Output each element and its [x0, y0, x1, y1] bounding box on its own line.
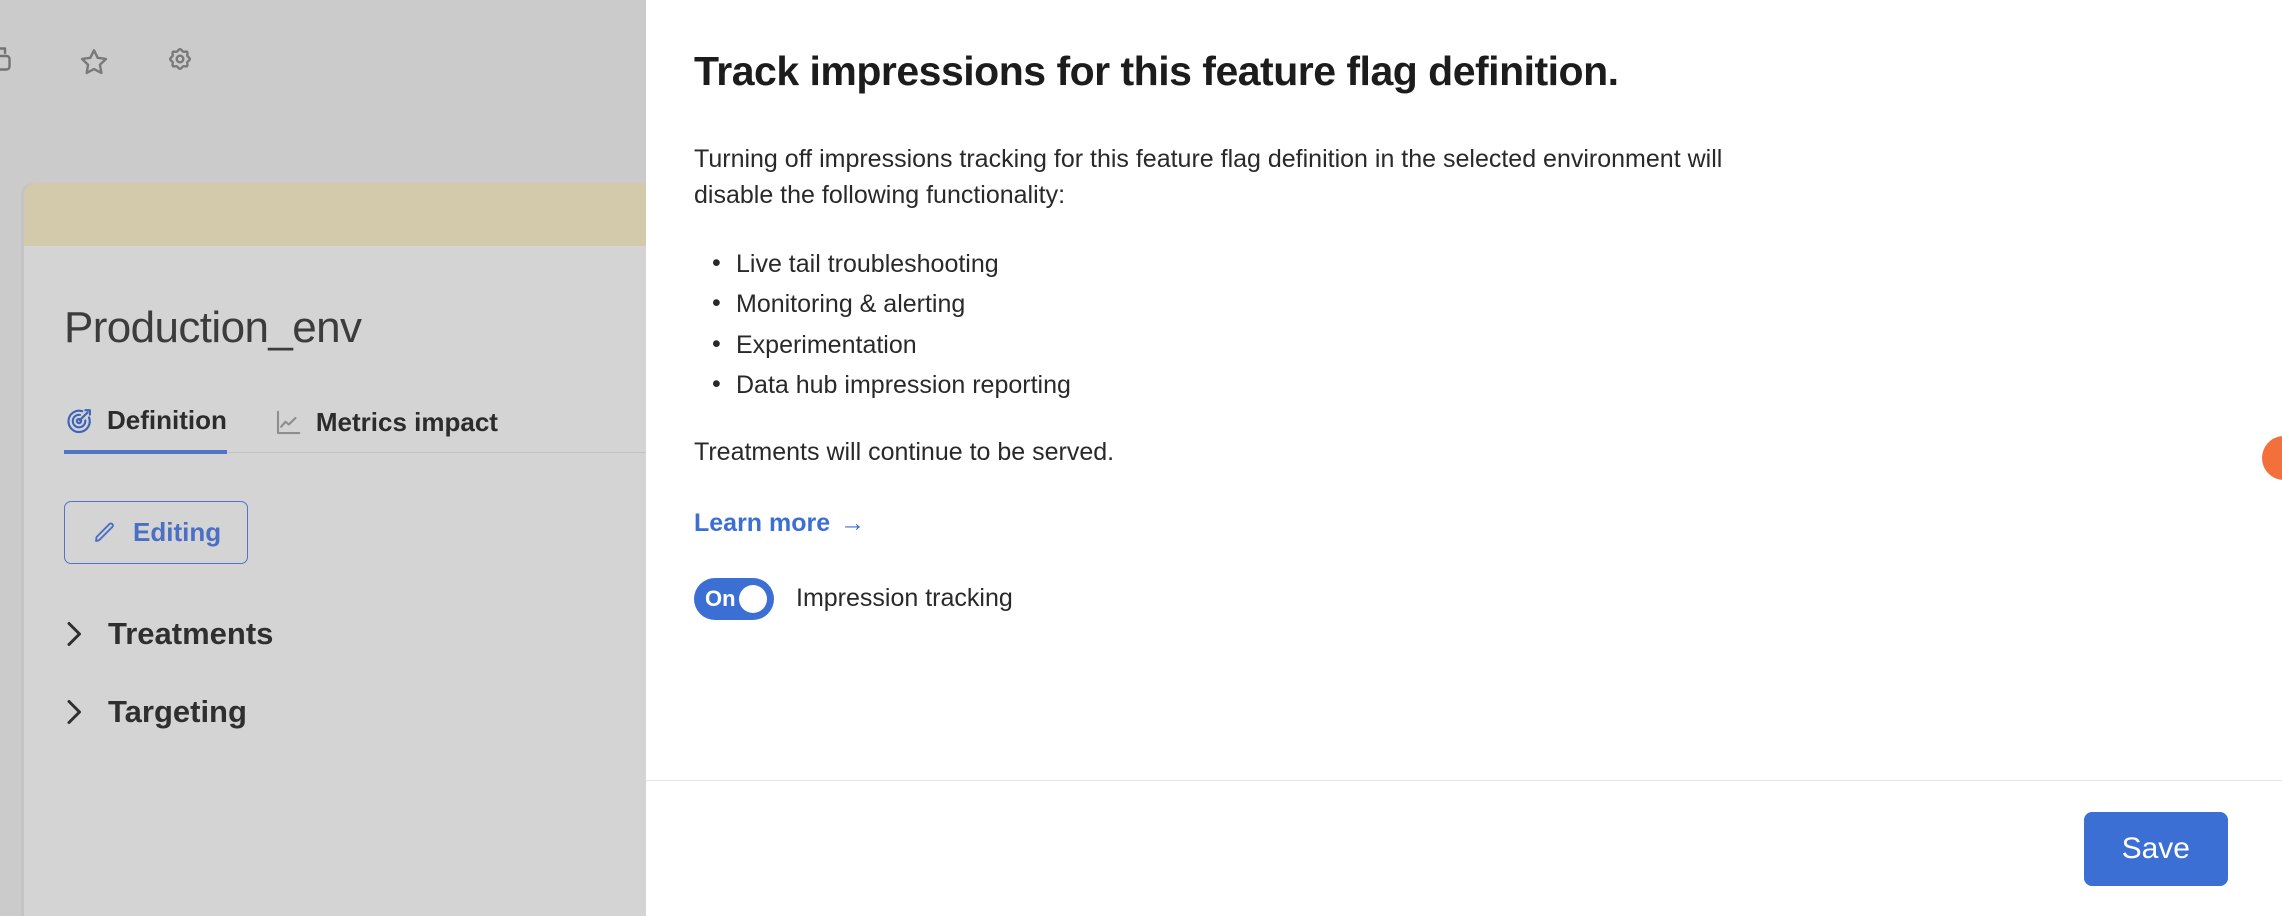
impression-tracking-row: On Impression tracking: [694, 578, 2222, 620]
gear-icon[interactable]: [162, 44, 198, 80]
panel-body: Track impressions for this feature flag …: [646, 0, 2282, 780]
page-title: Track impressions for this feature flag …: [694, 48, 2222, 95]
panel-footer: Save: [646, 780, 2282, 916]
star-icon[interactable]: [76, 44, 112, 80]
chevron-right-icon: [64, 697, 86, 727]
toggle-state-label: On: [705, 588, 736, 610]
list-item: Live tail troubleshooting: [736, 244, 2222, 285]
pencil-icon: [91, 519, 118, 546]
background-toolbar: [0, 44, 198, 80]
page-backdrop: Production_env Definition: [0, 0, 646, 916]
tab-definition-label: Definition: [107, 405, 227, 436]
impression-tracking-toggle[interactable]: On: [694, 578, 774, 620]
target-pencil-icon: [64, 406, 94, 436]
list-item: Experimentation: [736, 325, 2222, 366]
toggle-knob: [739, 585, 767, 613]
list-item: Monitoring & alerting: [736, 284, 2222, 325]
sidebar-item-targeting[interactable]: Targeting: [64, 694, 646, 730]
list-item: Data hub impression reporting: [736, 365, 2222, 406]
screen-root: Production_env Definition: [0, 0, 2282, 916]
sidebar-item-targeting-label: Targeting: [108, 694, 247, 730]
editing-button-label: Editing: [133, 517, 221, 548]
chevron-right-icon: [64, 619, 86, 649]
arrow-right-icon: →: [840, 511, 865, 536]
tab-metrics-impact-label: Metrics impact: [316, 407, 498, 438]
line-chart-icon: [273, 408, 303, 438]
impression-tracking-label: Impression tracking: [796, 584, 1013, 613]
impression-tracking-panel: Track impressions for this feature flag …: [646, 0, 2282, 916]
card-tabs: Definition Metrics impact: [64, 405, 646, 453]
treatments-note: Treatments will continue to be served.: [694, 438, 2222, 467]
sidebar-item-treatments-label: Treatments: [108, 616, 273, 652]
environment-title: Production_env: [64, 303, 646, 353]
sidebar-item-treatments[interactable]: Treatments: [64, 616, 646, 652]
learn-more-link[interactable]: Learn more →: [694, 509, 865, 538]
panel-intro-text: Turning off impressions tracking for thi…: [694, 141, 1794, 214]
tab-definition[interactable]: Definition: [64, 405, 227, 454]
learn-more-label: Learn more: [694, 509, 830, 538]
save-button[interactable]: Save: [2084, 812, 2228, 886]
editing-button[interactable]: Editing: [64, 501, 248, 564]
flag-environment-card: Production_env Definition: [24, 183, 646, 916]
duplicate-icon[interactable]: [0, 44, 26, 80]
tab-metrics-impact[interactable]: Metrics impact: [273, 407, 498, 452]
card-banner: [24, 183, 646, 246]
disabled-features-list: Live tail troubleshooting Monitoring & a…: [694, 244, 2222, 406]
